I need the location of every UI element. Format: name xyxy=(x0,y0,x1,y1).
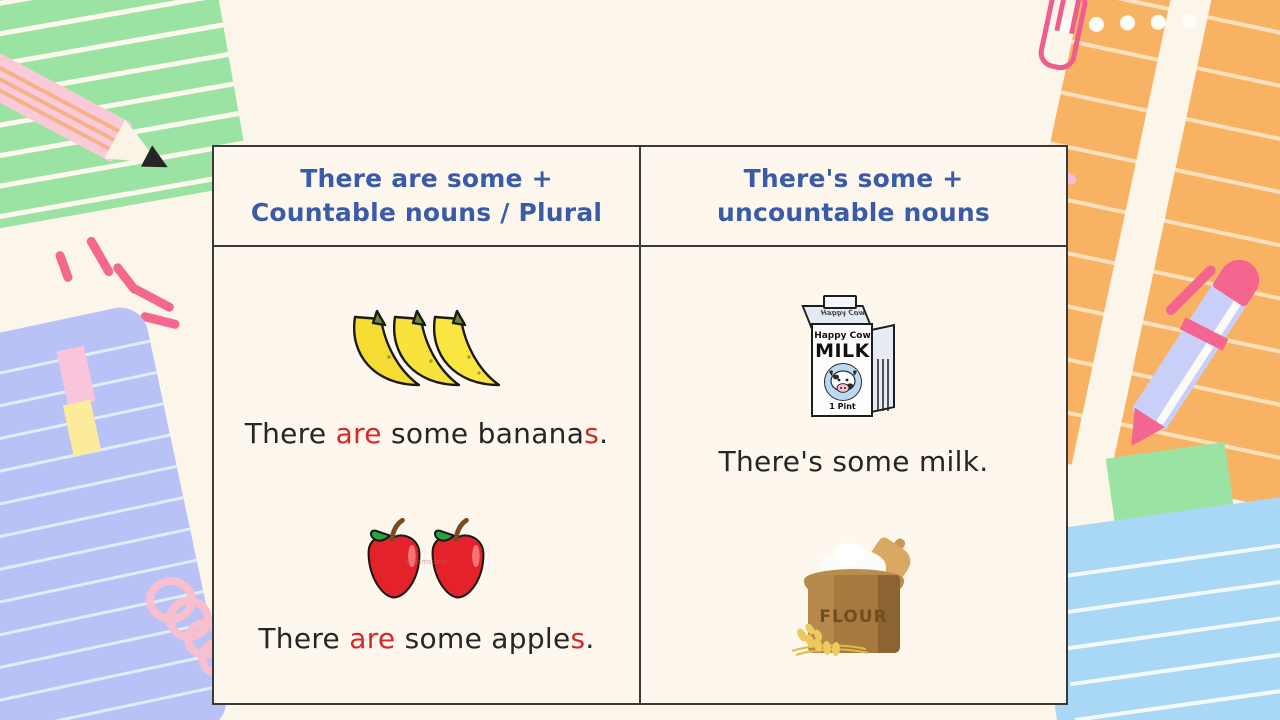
yellow-bookmark-tab xyxy=(63,400,101,457)
header-uncountable-line2: uncountable nouns xyxy=(717,196,990,231)
sentence-bananas-part-4: . xyxy=(599,417,608,450)
header-countable-line2: Countable nouns / Plural xyxy=(251,196,602,231)
sentence-apples-part-1: are xyxy=(349,622,395,655)
table-header-row: There are some + Countable nouns / Plura… xyxy=(214,147,1066,247)
example-flour: FLOUR xyxy=(794,541,914,656)
example-milk: Happy Cow Happy Cow MILK xyxy=(719,295,989,478)
uncountable-examples-cell: Happy Cow Happy Cow MILK xyxy=(641,247,1066,703)
blue-purple-lined-paper xyxy=(0,302,231,720)
pink-dashes-decoration xyxy=(30,250,200,370)
header-uncountable-line1: There's some + xyxy=(744,162,964,197)
slide-canvas: There are some + Countable nouns / Plura… xyxy=(0,0,1280,720)
sentence-bananas-part-1: are xyxy=(336,417,382,450)
carton-ribs xyxy=(875,359,893,411)
apples-watermark: dreamstime xyxy=(346,558,506,566)
flour-sack-illustration: FLOUR xyxy=(794,541,914,656)
sentence-bananas-part-3: s xyxy=(584,417,599,450)
sentence-milk-text: There's some milk. xyxy=(719,445,989,478)
sentence-apples-part-0: There xyxy=(258,622,349,655)
milk-product: MILK xyxy=(813,340,871,362)
milk-top-label: Happy Cow xyxy=(814,309,873,317)
grammar-comparison-table: There are some + Countable nouns / Plura… xyxy=(212,145,1068,705)
pink-paperclip-icon xyxy=(1036,0,1091,73)
milk-volume: 1 Pint xyxy=(813,402,871,411)
green-paper-chip xyxy=(1106,442,1235,528)
pink-pencil-icon xyxy=(0,45,187,192)
sentence-apples-part-4: . xyxy=(585,622,594,655)
sentence-apples: There are some apples. xyxy=(258,622,594,655)
example-apples: dreamstime There are some apples. xyxy=(258,514,594,655)
sentence-apples-part-3: s xyxy=(571,622,586,655)
header-cell-uncountable: There's some + uncountable nouns xyxy=(641,147,1066,245)
wheat-stalks-icon xyxy=(790,601,870,656)
cow-face-icon xyxy=(824,363,862,401)
apples-illustration: dreamstime xyxy=(346,514,506,604)
header-countable-line1: There are some + xyxy=(300,162,553,197)
example-bananas: There are some bananas. xyxy=(245,295,609,450)
pink-bookmark-tab xyxy=(56,346,95,407)
milk-carton-illustration: Happy Cow Happy Cow MILK xyxy=(805,295,901,423)
torn-paper-edge xyxy=(1068,0,1215,488)
countable-examples-cell: There are some bananas. xyxy=(214,247,641,703)
spiral-holes xyxy=(1058,0,1223,60)
table-body-row: There are some bananas. xyxy=(214,247,1066,703)
sentence-apples-part-2: some apple xyxy=(395,622,570,655)
sentence-bananas: There are some bananas. xyxy=(245,417,609,450)
lavender-pen-icon xyxy=(1108,249,1273,463)
sentence-bananas-part-2: some banana xyxy=(382,417,584,450)
sentence-bananas-part-0: There xyxy=(245,417,336,450)
sentence-milk: There's some milk. xyxy=(719,445,989,478)
bananas-illustration xyxy=(327,295,527,395)
header-cell-countable: There are some + Countable nouns / Plura… xyxy=(214,147,641,245)
